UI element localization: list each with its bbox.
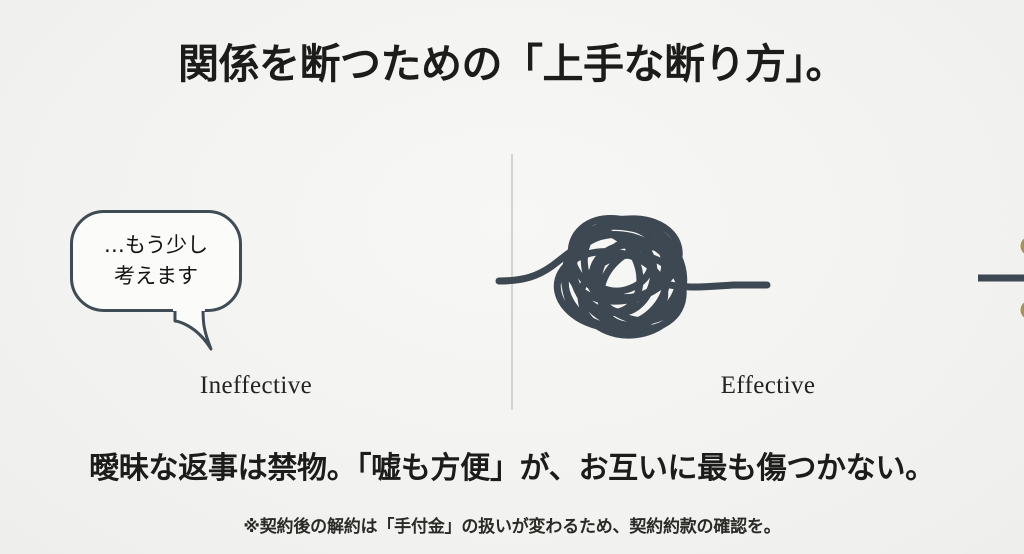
kicker-text: 曖昧な返事は禁物。「嘘も方便」が、お互いに最も傷つかない。 <box>0 443 1024 487</box>
bubble-line-1: …もう少し <box>104 231 208 261</box>
page-title: 関係を断つための「上手な断り方」。 <box>0 30 1024 90</box>
speech-bubble-ineffective: …もう少し 考えます <box>70 210 242 312</box>
panel-effective: 他社で 契約しました Effective <box>512 140 1024 425</box>
slide-canvas: 関係を断つための「上手な断り方」。 <box>0 0 1024 554</box>
bubble-line-2: 考えます <box>114 262 198 292</box>
caption-effective: Effective <box>512 372 1024 400</box>
speech-bubble-tail-left <box>173 307 233 359</box>
panel-ineffective: …もう少し 考えます Ineffective <box>0 140 512 425</box>
footnote-text: ※契約後の解約は「手付金」の扱いが変わるため、契約約款の確認を。 <box>0 512 1024 537</box>
comparison-section: …もう少し 考えます Ineffective <box>0 140 1024 425</box>
caption-ineffective: Ineffective <box>0 372 512 400</box>
